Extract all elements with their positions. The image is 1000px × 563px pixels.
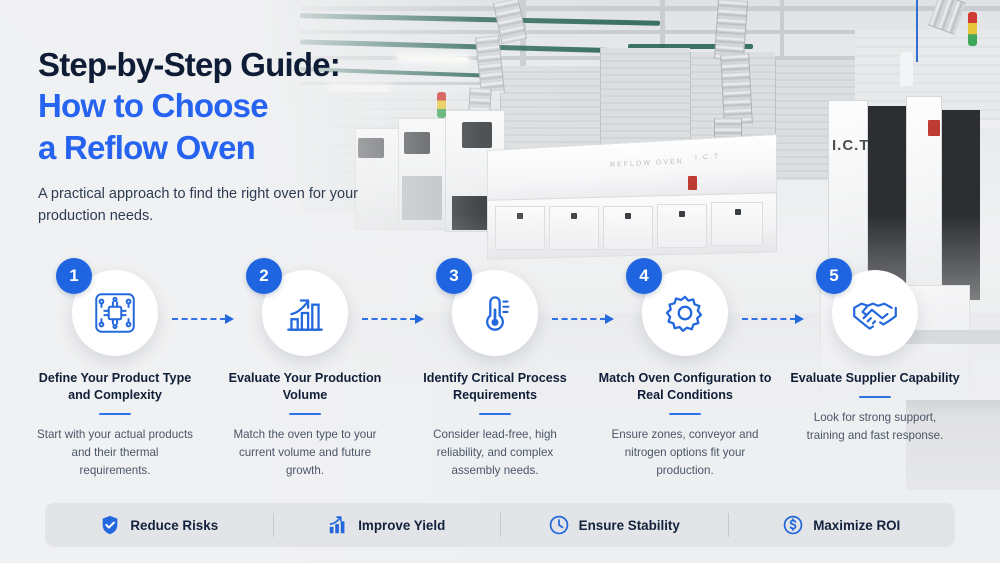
step-description-5: Look for strong support, training and fa…	[780, 409, 970, 445]
step-title-3: Identify Critical Process Requirements	[400, 370, 590, 404]
step-item-3[interactable]: 3 Identify Critical Process Requirements…	[400, 270, 590, 480]
step-divider-4	[669, 413, 701, 416]
circuit-chip-icon	[90, 288, 140, 338]
page-title-line-3: a Reflow Oven	[38, 127, 478, 169]
step-badge-3: 3	[436, 258, 472, 294]
step-title-5: Evaluate Supplier Capability	[782, 370, 967, 387]
step-icon-wrap-5: 5	[832, 270, 918, 356]
clock-icon	[548, 514, 570, 536]
shield-check-icon	[99, 514, 121, 536]
step-icon-wrap-1: 1	[72, 270, 158, 356]
step-item-5[interactable]: 5 Evaluate Supplier Capability Look for …	[780, 270, 970, 445]
step-badge-5: 5	[816, 258, 852, 294]
page-title-line-2: How to Choose	[38, 85, 478, 127]
step-title-1: Define Your Product Type and Complexity	[20, 370, 210, 404]
step-item-1[interactable]: 1 Define Your Product Type and Complexit…	[20, 270, 210, 480]
page-title-line-1: Step-by-Step Guide:	[38, 46, 478, 85]
bar-chart-arrow-icon	[327, 514, 349, 536]
infographic-poster: REFLOW OVEN I.C.T I.C.T Step-by-Step Gui…	[0, 0, 1000, 563]
gear-icon	[660, 288, 710, 338]
benefit-label-improve-yield: Improve Yield	[358, 518, 445, 533]
page-subtitle: A practical approach to find the right o…	[38, 183, 358, 228]
step-description-3: Consider lead-free, high reliability, an…	[400, 426, 590, 480]
step-divider-1	[99, 413, 131, 416]
step-description-2: Match the oven type to your current volu…	[210, 426, 400, 480]
step-divider-2	[289, 413, 321, 416]
benefit-label-maximize-roi: Maximize ROI	[813, 518, 900, 533]
handshake-icon	[848, 286, 902, 340]
step-title-4: Match Oven Configuration to Real Conditi…	[590, 370, 780, 404]
step-divider-5	[859, 396, 891, 399]
step-title-2: Evaluate Your Production Volume	[210, 370, 400, 404]
step-divider-3	[479, 413, 511, 416]
benefit-item-maximize-roi[interactable]: Maximize ROI	[728, 503, 956, 547]
step-icon-wrap-3: 3	[452, 270, 538, 356]
thermometer-icon	[470, 288, 520, 338]
step-description-4: Ensure zones, conveyor and nitrogen opti…	[590, 426, 780, 480]
growth-bar-chart-icon	[280, 288, 330, 338]
benefits-bar: Reduce Risks Improve Yield Ensure Stabil…	[45, 503, 955, 547]
benefit-item-improve-yield[interactable]: Improve Yield	[273, 503, 501, 547]
step-description-1: Start with your actual products and thei…	[20, 426, 210, 480]
step-item-2[interactable]: 2 Evaluate Your Production Volume Match …	[210, 270, 400, 480]
benefit-label-reduce-risks: Reduce Risks	[130, 518, 218, 533]
step-badge-1: 1	[56, 258, 92, 294]
benefit-item-ensure-stability[interactable]: Ensure Stability	[500, 503, 728, 547]
step-icon-wrap-4: 4	[642, 270, 728, 356]
dollar-circle-icon	[782, 514, 804, 536]
header-block: Step-by-Step Guide: How to Choose a Refl…	[38, 46, 478, 228]
steps-row: 1 Define Your Product Type and Complexit…	[0, 270, 1000, 480]
step-badge-4: 4	[626, 258, 662, 294]
step-icon-wrap-2: 2	[262, 270, 348, 356]
benefit-item-reduce-risks[interactable]: Reduce Risks	[45, 503, 273, 547]
benefit-label-ensure-stability: Ensure Stability	[579, 518, 680, 533]
step-item-4[interactable]: 4 Match Oven Configuration to Real Condi…	[590, 270, 780, 480]
step-badge-2: 2	[246, 258, 282, 294]
